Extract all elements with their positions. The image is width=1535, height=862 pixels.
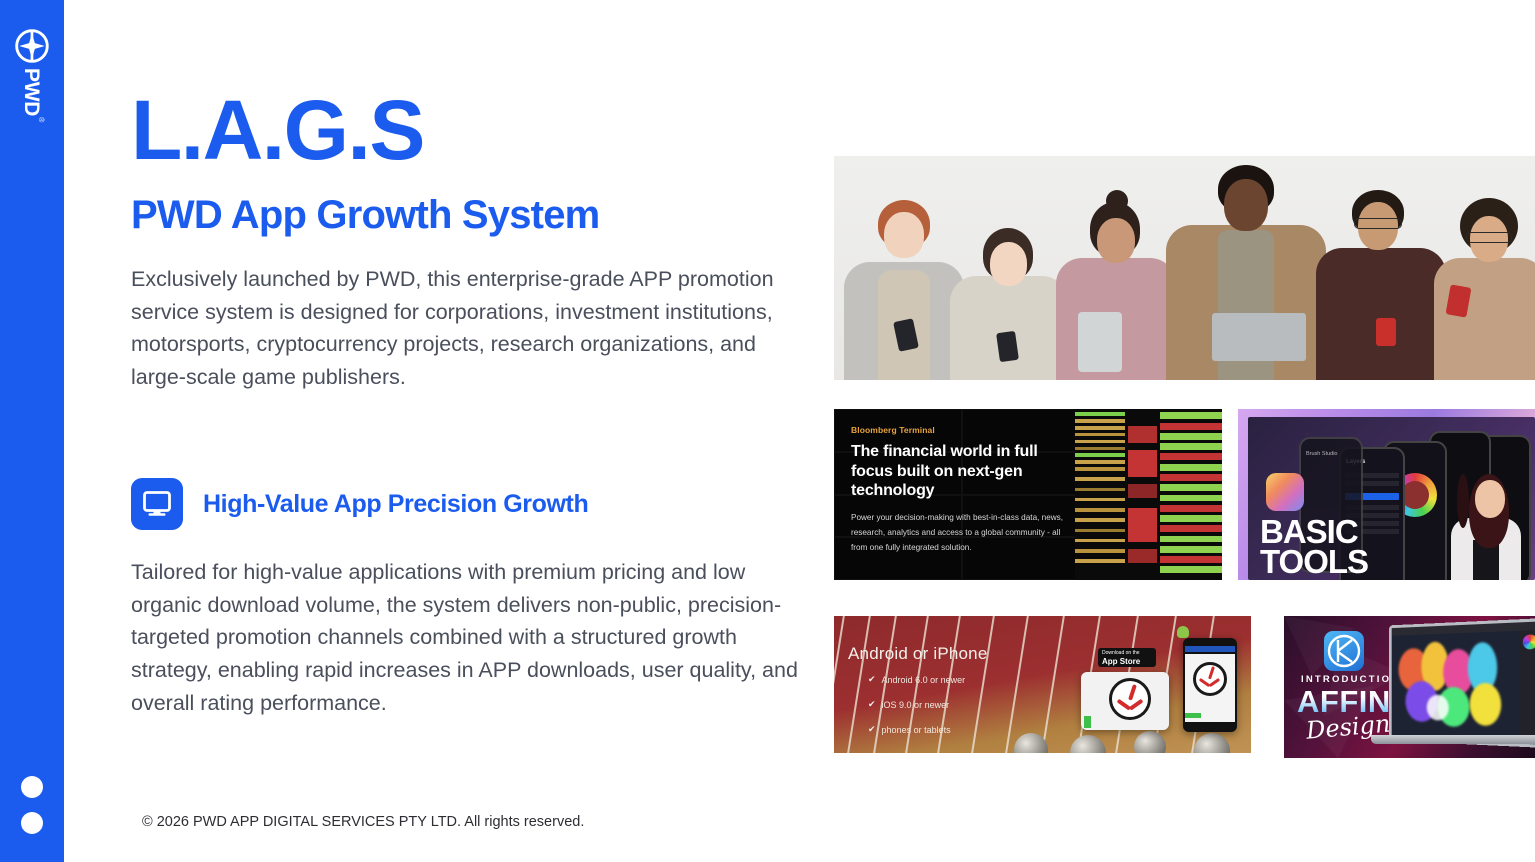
laptop-screen <box>1389 618 1535 748</box>
iphone-mockup <box>1081 672 1169 730</box>
left-sidebar: PWD® <box>0 0 64 862</box>
android-card-title: Android or iPhone <box>848 644 988 664</box>
check-icon: ✔ <box>868 724 876 735</box>
android-phone-mockup <box>1183 638 1237 732</box>
procreate-brush-studio-label: Brush Studio <box>1306 451 1338 457</box>
brand-name: PWD® <box>22 68 43 121</box>
person-3 <box>1056 202 1176 380</box>
procreate-pocket-card[interactable]: Layers Brush Studio BASIC TOOLS Procreat… <box>1238 409 1535 580</box>
procreate-presenter <box>1443 460 1529 580</box>
check-icon: ✔ <box>868 674 876 685</box>
bloomberg-terminal-card[interactable]: Bloomberg Terminal The financial world i… <box>834 409 1222 580</box>
sidebar-dot-1[interactable] <box>21 776 43 798</box>
affinity-glyph <box>1324 631 1364 671</box>
main-content: L.A.G.S PWD App Growth System Exclusivel… <box>131 0 811 862</box>
laptop-base <box>1371 735 1535 744</box>
hero-photo-card[interactable] <box>834 156 1535 380</box>
affinity-designer-card[interactable]: INTRODUCTION TO AFFINITY Designer <box>1284 616 1535 758</box>
page-title: L.A.G.S <box>131 88 424 172</box>
bloomberg-body: Power your decision-making with best-in-… <box>851 510 1066 556</box>
page-subtitle: PWD App Growth System <box>131 193 599 237</box>
feature-title: High-Value App Precision Growth <box>203 490 588 519</box>
person-2 <box>950 228 1068 380</box>
laptop-mockup <box>1381 622 1535 744</box>
android-requirement-item: ✔Android 6.0 or newer <box>868 674 965 685</box>
app-store-badge[interactable]: Download on the App Store <box>1098 648 1156 667</box>
android-requirements-list: ✔Android 6.0 or newer ✔iOS 9.0 or newer … <box>868 674 965 749</box>
person-6 <box>1434 198 1535 380</box>
app-store-badge-small: Download on the <box>1102 650 1140 656</box>
bloomberg-data-grid <box>1075 409 1222 580</box>
check-icon: ✔ <box>868 699 876 710</box>
people-photo <box>834 156 1535 380</box>
android-requirement-label: iOS 9.0 or newer <box>882 700 950 710</box>
procreate-inner: Layers Brush Studio BASIC TOOLS Procreat… <box>1248 417 1535 580</box>
person-4 <box>1166 165 1326 380</box>
app-store-badge-large: App Store <box>1102 658 1152 666</box>
brand-logo[interactable]: PWD® <box>0 0 64 150</box>
intro-paragraph: Exclusively launched by PWD, this enterp… <box>131 263 796 394</box>
bloomberg-headline: The financial world in full focus built … <box>851 442 1056 501</box>
feature-heading-row: High-Value App Precision Growth <box>131 478 588 530</box>
affinity-logo-icon <box>1324 631 1364 671</box>
android-requirement-item: ✔phones or tablets <box>868 724 965 735</box>
procreate-app-icon <box>1266 473 1304 511</box>
sidebar-dot-2[interactable] <box>21 812 43 834</box>
sidebar-dots <box>0 776 64 834</box>
person-1 <box>844 200 964 380</box>
android-requirement-label: Android 6.0 or newer <box>882 675 966 685</box>
compass-star-logo-icon <box>15 29 49 63</box>
android-iphone-card[interactable]: Android or iPhone ✔Android 6.0 or newer … <box>834 616 1251 753</box>
monitor-icon <box>131 478 183 530</box>
copyright-footer: © 2026 PWD APP DIGITAL SERVICES PTY LTD.… <box>142 814 584 830</box>
feature-paragraph: Tailored for high-value applications wit… <box>131 556 803 719</box>
bloomberg-text-block: Bloomberg Terminal The financial world i… <box>834 409 1075 580</box>
android-requirement-label: phones or tablets <box>882 725 951 735</box>
procreate-line-2: TOOLS <box>1260 547 1368 577</box>
android-requirement-item: ✔iOS 9.0 or newer <box>868 699 965 710</box>
registered-mark: ® <box>38 117 45 122</box>
monitor-icon-glyph <box>142 490 172 518</box>
person-5 <box>1316 190 1446 380</box>
android-robot-icon <box>1177 626 1189 638</box>
bloomberg-kicker: Bloomberg Terminal <box>851 425 1075 435</box>
